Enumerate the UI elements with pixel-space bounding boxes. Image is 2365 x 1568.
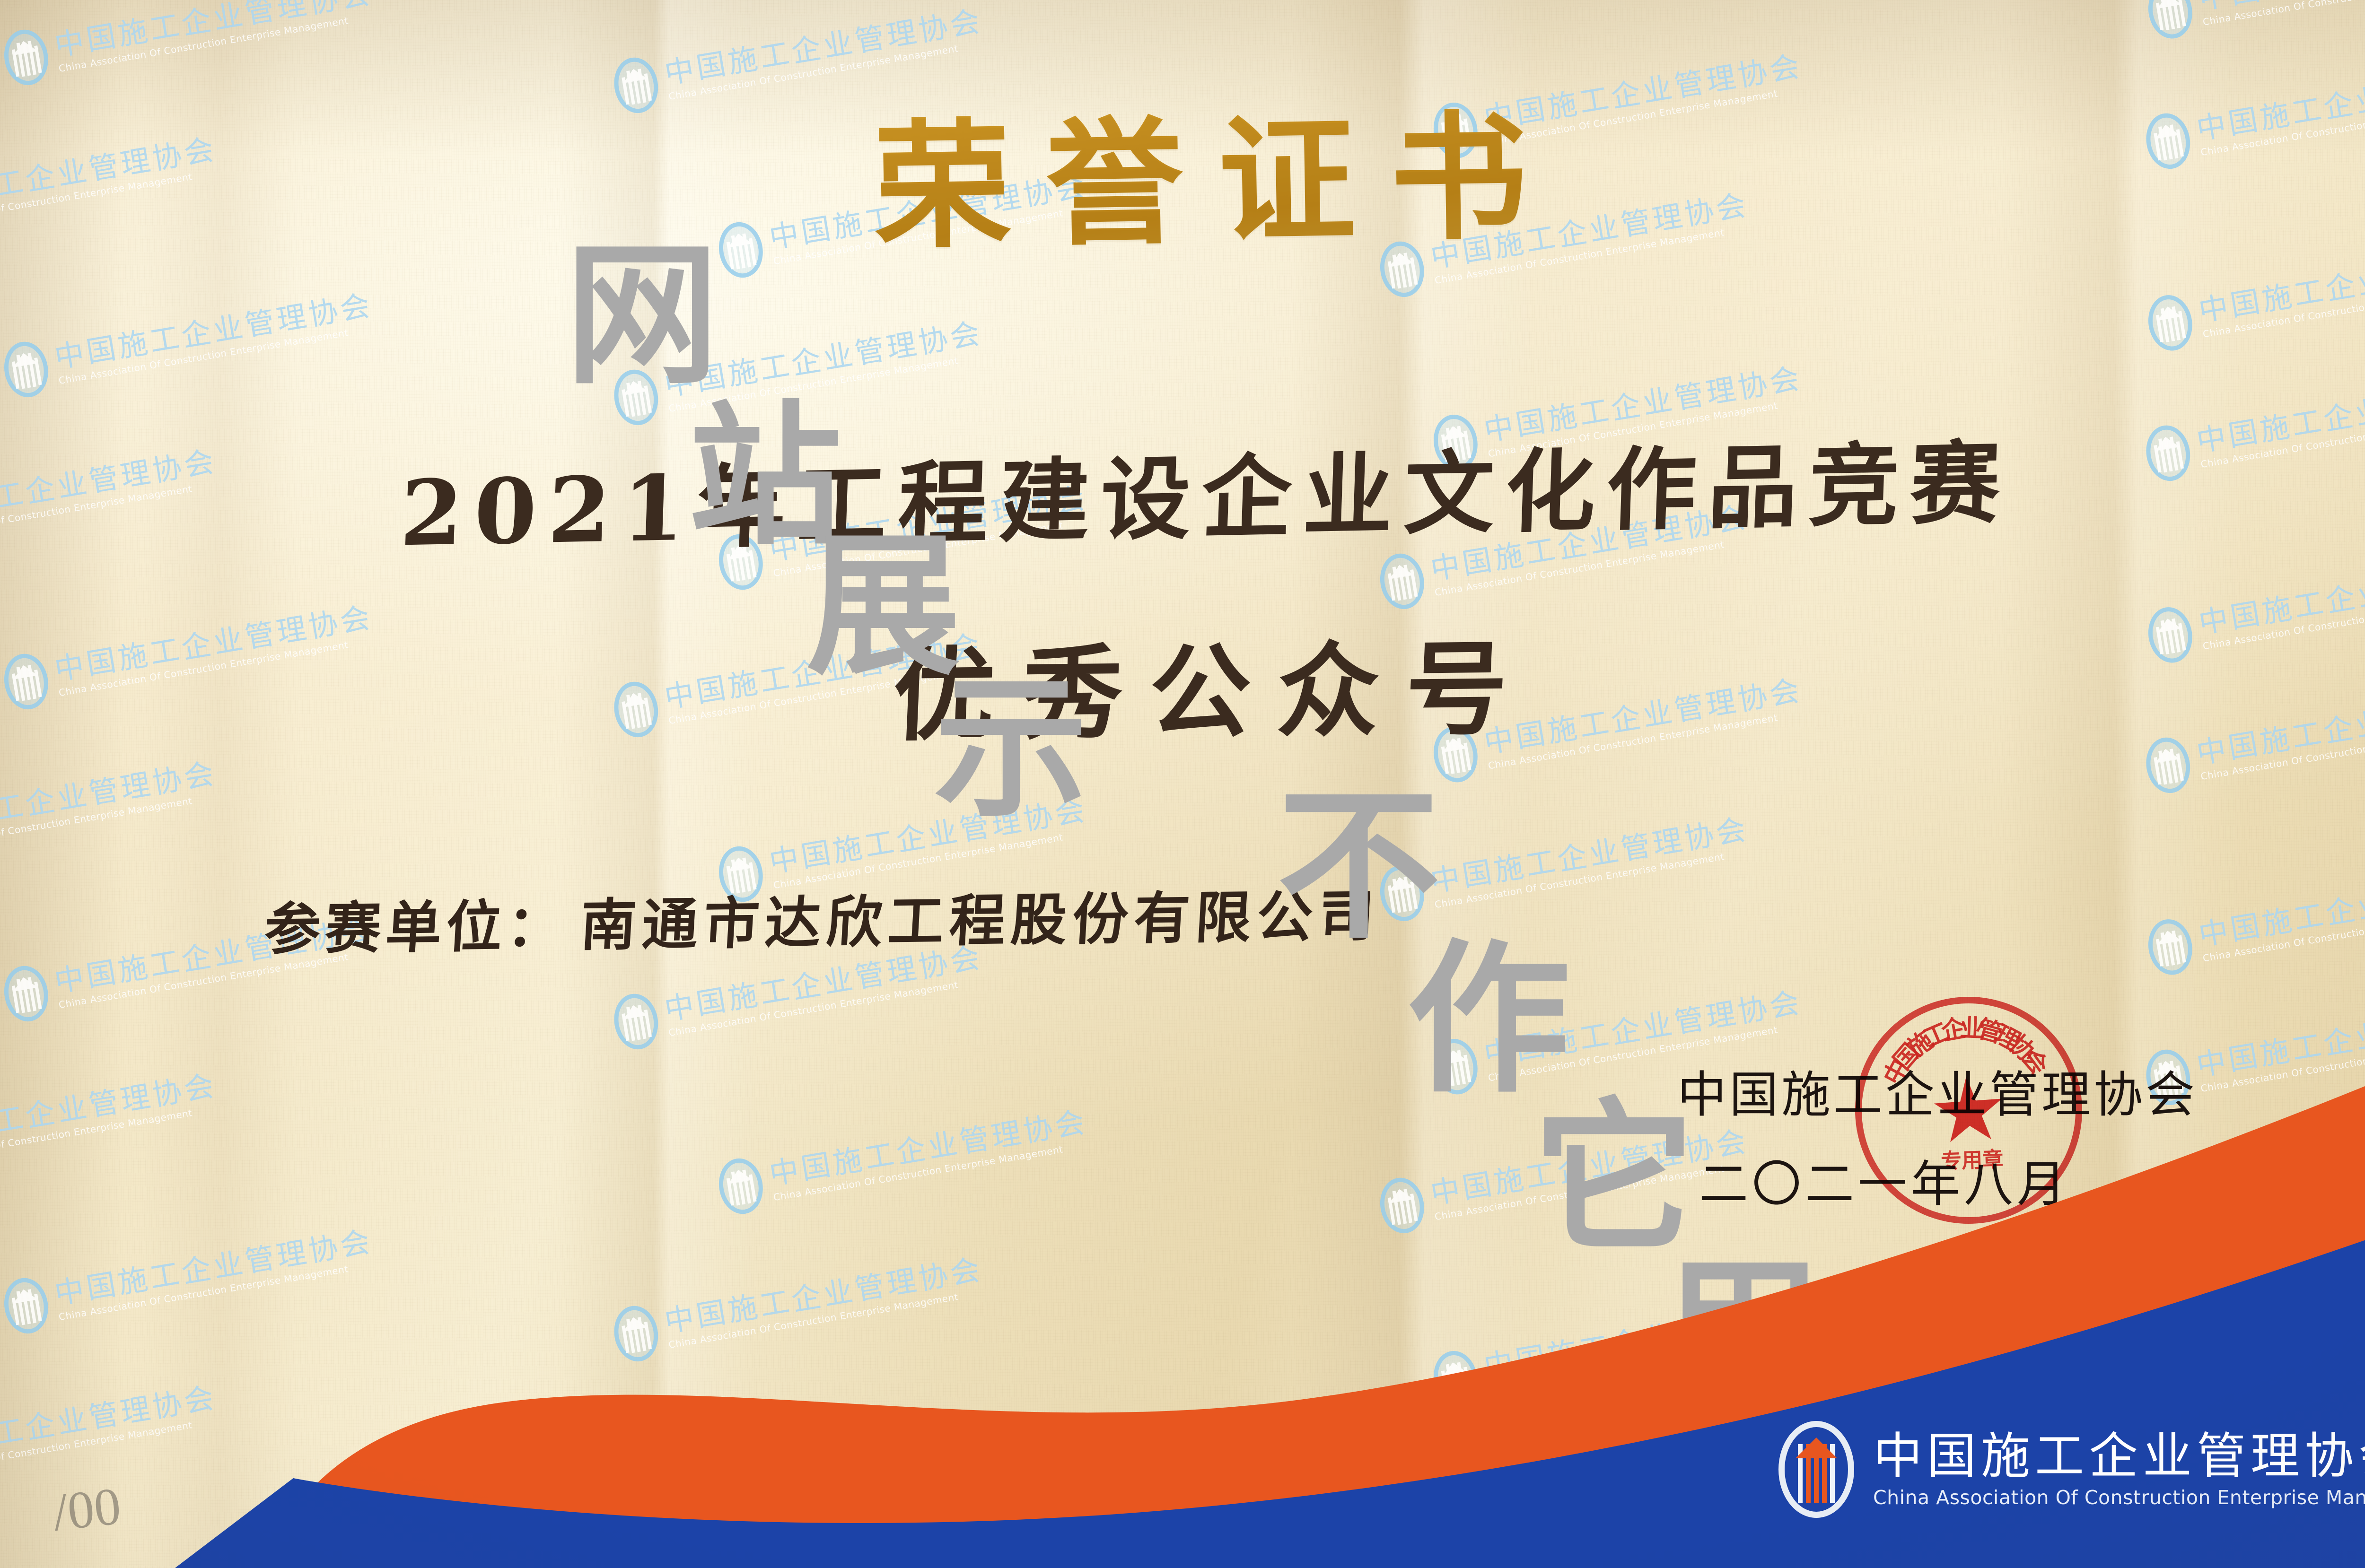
seal-sub-text: 专用章 xyxy=(1940,1142,2004,1175)
association-logo-icon xyxy=(1778,1421,1854,1518)
recipient-name: 南通市达欣工程股份有限公司 xyxy=(578,883,1382,958)
recipient-row: 参赛单位：南通市达欣工程股份有限公司 xyxy=(263,871,1383,965)
official-seal: 中国施工企业管理协会 专用章 xyxy=(1848,989,2090,1231)
footer-logo-en: China Association Of Construction Enterp… xyxy=(1873,1488,2365,1507)
page-title: 荣誉证书 xyxy=(0,52,2365,288)
pencil-annotation: /00 xyxy=(50,1476,124,1543)
footer-logo: 中国施工企业管理协会 China Association Of Construc… xyxy=(1778,1421,2365,1518)
logo-chevron-icon xyxy=(1796,1437,1837,1458)
award-line-secondary: 优秀公众号 xyxy=(0,597,2365,769)
recipient-label: 参赛单位： xyxy=(263,893,569,962)
footer-logo-cn: 中国施工企业管理协会 xyxy=(1873,1431,2365,1481)
footer-logo-text: 中国施工企业管理协会 China Association Of Construc… xyxy=(1873,1431,2365,1507)
certificate-page: 中国施工企业管理协会China Association Of Construct… xyxy=(0,0,2365,1568)
